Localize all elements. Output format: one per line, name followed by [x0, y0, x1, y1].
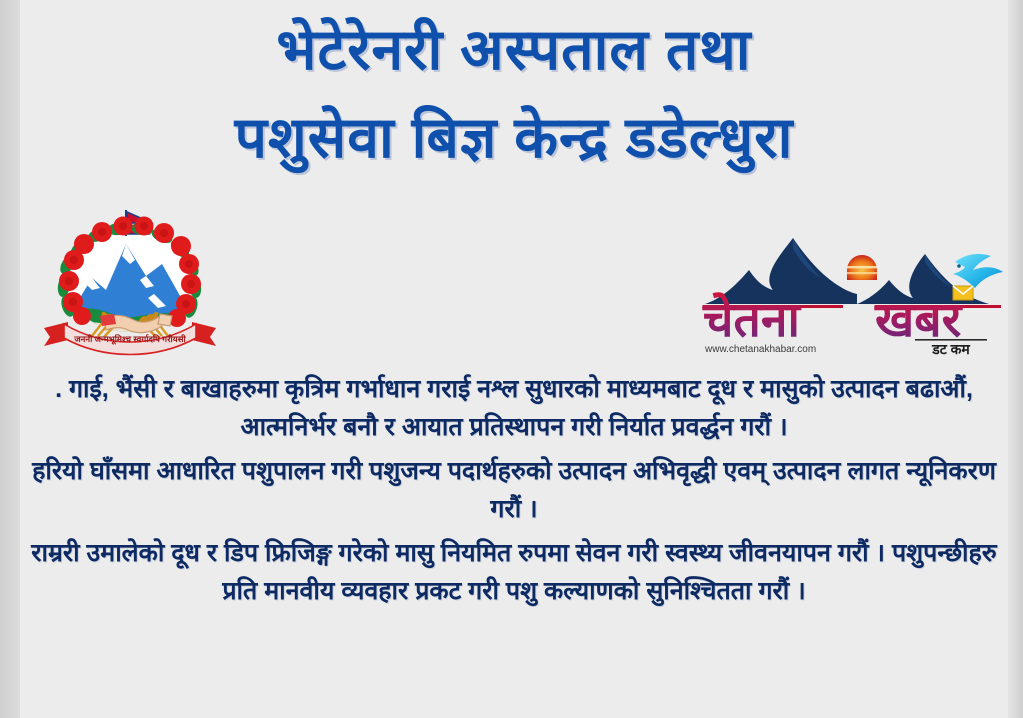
logo-url-text: www.chetanakhabar.com — [704, 344, 816, 355]
notice-body: . गाई, भैंसी र बाखाहरुमा कृत्रिम गर्भाधा… — [28, 370, 1000, 610]
page-title: भेटेरेनरी अस्पताल तथा पशुसेवा बिज्ञ केन्… — [20, 6, 1008, 182]
emblem-motto-text: जननी जन्मभूमिश्च स्वर्गादपि गरीयसी — [73, 334, 186, 345]
poster-root: भेटेरेनरी अस्पताल तथा पशुसेवा बिज्ञ केन्… — [0, 0, 1023, 718]
bird-icon — [953, 254, 1003, 288]
notice-paragraph-1: . गाई, भैंसी र बाखाहरुमा कृत्रिम गर्भाधा… — [28, 370, 1000, 446]
logo-tagline-text: डट कम — [931, 341, 970, 357]
title-line-2: पशुसेवा बिज्ञ केन्द्र डडेल्धुरा — [20, 94, 1008, 182]
nepal-emblem-icon: जननी जन्मभूमिश्च स्वर्गादपि गरीयसी — [34, 204, 226, 356]
title-line-1: भेटेरेनरी अस्पताल तथा — [20, 6, 1008, 94]
logo-word-chetana: चेतना — [702, 292, 801, 347]
notice-paragraph-2: हरियो घाँसमा आधारित पशुपालन गरी पशुजन्य … — [28, 452, 1000, 528]
left-edge-band — [0, 0, 20, 718]
notice-paragraph-3: राम्ररी उमालेको दूध र डिप फ्रिजिङ्ग गरेक… — [28, 534, 1000, 610]
chetana-khabar-logo: चेतना खबर www.chetanakhabar.com डट कम — [697, 226, 1015, 360]
sun-icon — [847, 255, 877, 280]
